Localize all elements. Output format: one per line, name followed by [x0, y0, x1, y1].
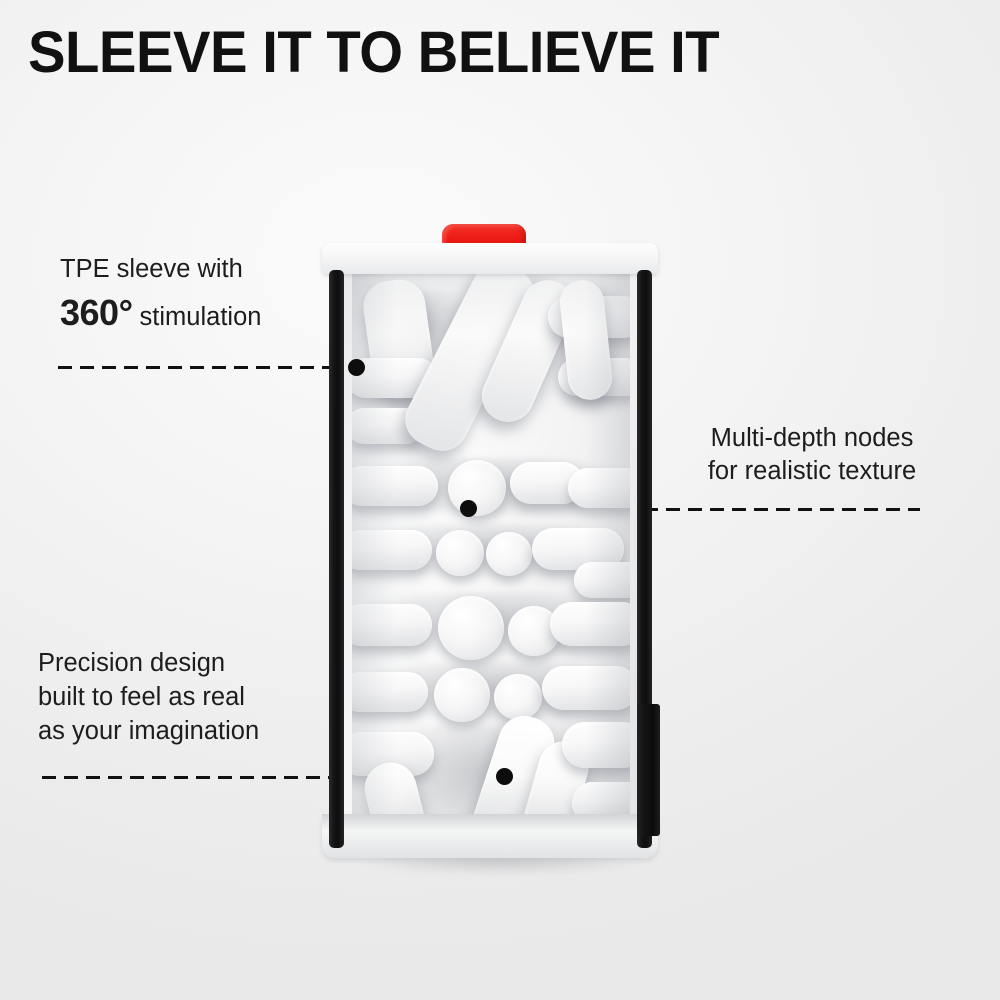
molded-node-texture — [352, 262, 630, 858]
callout-multi-depth-nodes-line1: Multi-depth nodes — [662, 422, 962, 455]
callout-stimulation-text: stimulation — [132, 303, 261, 331]
leader-line-tpe-sleeve — [58, 366, 348, 369]
callout-tpe-sleeve: TPE sleeve with 360° stimulation — [60, 252, 360, 335]
callout-precision-design-line2: built to feel as real — [38, 680, 358, 714]
page-title: SLEEVE IT TO BELIEVE IT — [28, 22, 940, 84]
side-rail-left — [329, 270, 344, 848]
callout-precision-design-line1: Precision design — [38, 646, 358, 680]
callout-multi-depth-nodes: Multi-depth nodes for realistic texture — [662, 422, 962, 488]
sleeve-body — [330, 262, 650, 858]
base-foot — [322, 814, 658, 858]
callout-tpe-sleeve-line2: 360° stimulation — [60, 295, 360, 335]
leader-dot-multi-depth-nodes — [460, 500, 477, 517]
product-image — [300, 210, 700, 890]
callout-precision-design: Precision design built to feel as real a… — [38, 646, 358, 748]
top-cap-flange — [322, 243, 658, 274]
callout-tpe-sleeve-line1: TPE sleeve with — [60, 252, 360, 287]
side-rail-right-lower — [637, 704, 660, 836]
leader-dot-precision-design — [496, 768, 513, 785]
callout-precision-design-line3: as your imagination — [38, 714, 358, 748]
callout-multi-depth-nodes-line2: for realistic texture — [662, 455, 962, 488]
leader-dot-tpe-sleeve — [348, 359, 365, 376]
infographic-canvas: SLEEVE IT TO BELIEVE IT — [0, 0, 1000, 1000]
callout-360-emphasis: 360° — [60, 292, 132, 333]
